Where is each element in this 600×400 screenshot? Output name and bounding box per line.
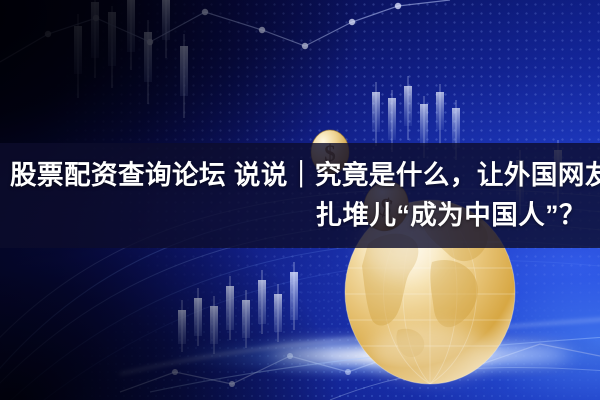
headline-line-1: 股票配资查询论坛 说说｜究竟是什么，让外国网友 — [0, 157, 600, 195]
promo-banner: $ $ 股票配资查询论坛 说说｜究竟是什么，让外国网友 扎堆儿“成为中国人”？ — [0, 0, 600, 400]
headline-line-2: 扎堆儿“成为中国人”？ — [0, 197, 600, 235]
headline-band: 股票配资查询论坛 说说｜究竟是什么，让外国网友 扎堆儿“成为中国人”？ — [0, 143, 600, 248]
